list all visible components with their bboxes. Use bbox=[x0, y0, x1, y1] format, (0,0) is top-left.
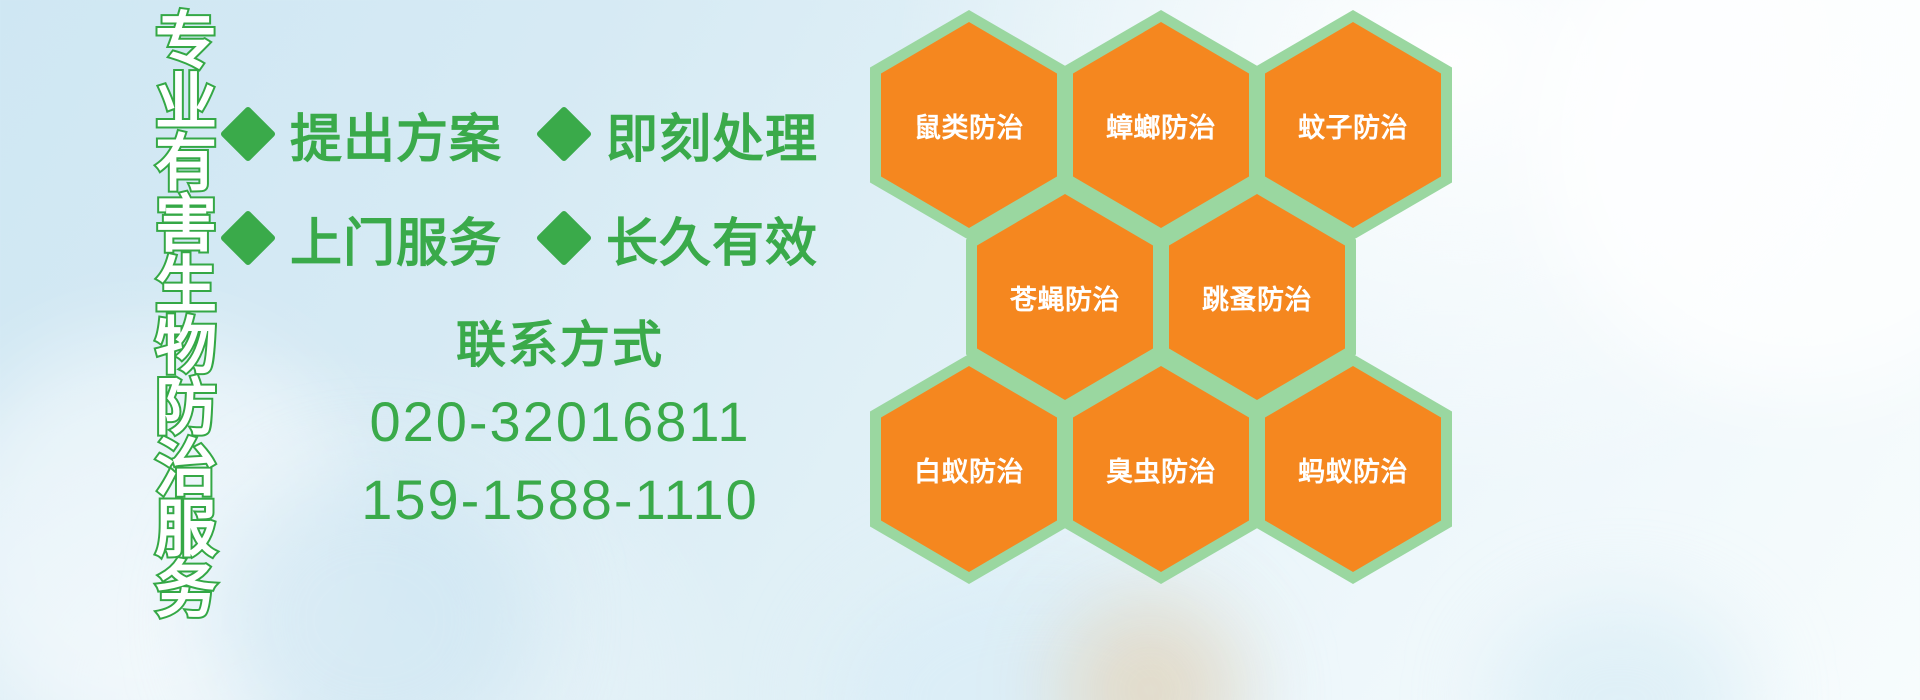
feature-item-long-lasting: 长久有效 bbox=[544, 201, 818, 276]
diamond-bullet-icon bbox=[220, 106, 277, 163]
hex-inner: 蚂蚁防治 bbox=[1265, 366, 1441, 572]
feature-item-immediate-handling: 即刻处理 bbox=[544, 97, 818, 172]
feature-row: 提出方案 即刻处理 bbox=[228, 82, 868, 186]
background-blob bbox=[1540, 0, 1920, 400]
diamond-bullet-icon bbox=[536, 106, 593, 163]
hex-label: 鼠类防治 bbox=[914, 106, 1024, 145]
phone-number-landline[interactable]: 020-32016811 bbox=[300, 386, 820, 459]
feature-row: 上门服务 长久有效 bbox=[228, 186, 868, 290]
hex-label: 蚂蚁防治 bbox=[1298, 450, 1408, 489]
hex-label: 白蚁防治 bbox=[914, 450, 1024, 489]
hex-inner: 白蚁防治 bbox=[881, 366, 1057, 572]
hex-inner: 蟑螂防治 bbox=[1073, 22, 1249, 228]
hex-label: 跳蚤防治 bbox=[1202, 278, 1312, 317]
feature-label: 即刻处理 bbox=[606, 97, 818, 172]
hex-inner: 跳蚤防治 bbox=[1169, 194, 1345, 400]
feature-list: 提出方案 即刻处理 上门服务 长久有效 bbox=[228, 82, 868, 290]
feature-label: 提出方案 bbox=[290, 97, 502, 172]
phone-number-mobile[interactable]: 159-1588-1110 bbox=[300, 464, 820, 537]
feature-label: 长久有效 bbox=[606, 201, 818, 276]
hex-inner: 苍蝇防治 bbox=[977, 194, 1153, 400]
contact-title: 联系方式 bbox=[300, 312, 820, 380]
feature-item-onsite-service: 上门服务 bbox=[228, 201, 502, 276]
background-blob bbox=[1490, 600, 1750, 700]
hex-inner: 鼠类防治 bbox=[881, 22, 1057, 228]
hex-inner: 臭虫防治 bbox=[1073, 366, 1249, 572]
hex-label: 臭虫防治 bbox=[1106, 450, 1216, 489]
contact-block: 联系方式 020-32016811 159-1588-1110 bbox=[300, 312, 820, 537]
hex-label: 苍蝇防治 bbox=[1010, 278, 1120, 317]
hex-label: 蟑螂防治 bbox=[1106, 106, 1216, 145]
feature-item-propose-plan: 提出方案 bbox=[228, 97, 502, 172]
hex-label: 蚊子防治 bbox=[1298, 106, 1408, 145]
hex-inner: 蚊子防治 bbox=[1265, 22, 1441, 228]
service-honeycomb: 鼠类防治 蟑螂防治 蚊子防治 苍蝇防治 跳蚤防治 白蚁防治 臭虫防治 蚂蚁防治 bbox=[856, 0, 1476, 700]
feature-label: 上门服务 bbox=[290, 201, 502, 276]
vertical-headline: 专业有害生物防治服务 bbox=[112, 8, 212, 568]
diamond-bullet-icon bbox=[536, 210, 593, 267]
diamond-bullet-icon bbox=[220, 210, 277, 267]
